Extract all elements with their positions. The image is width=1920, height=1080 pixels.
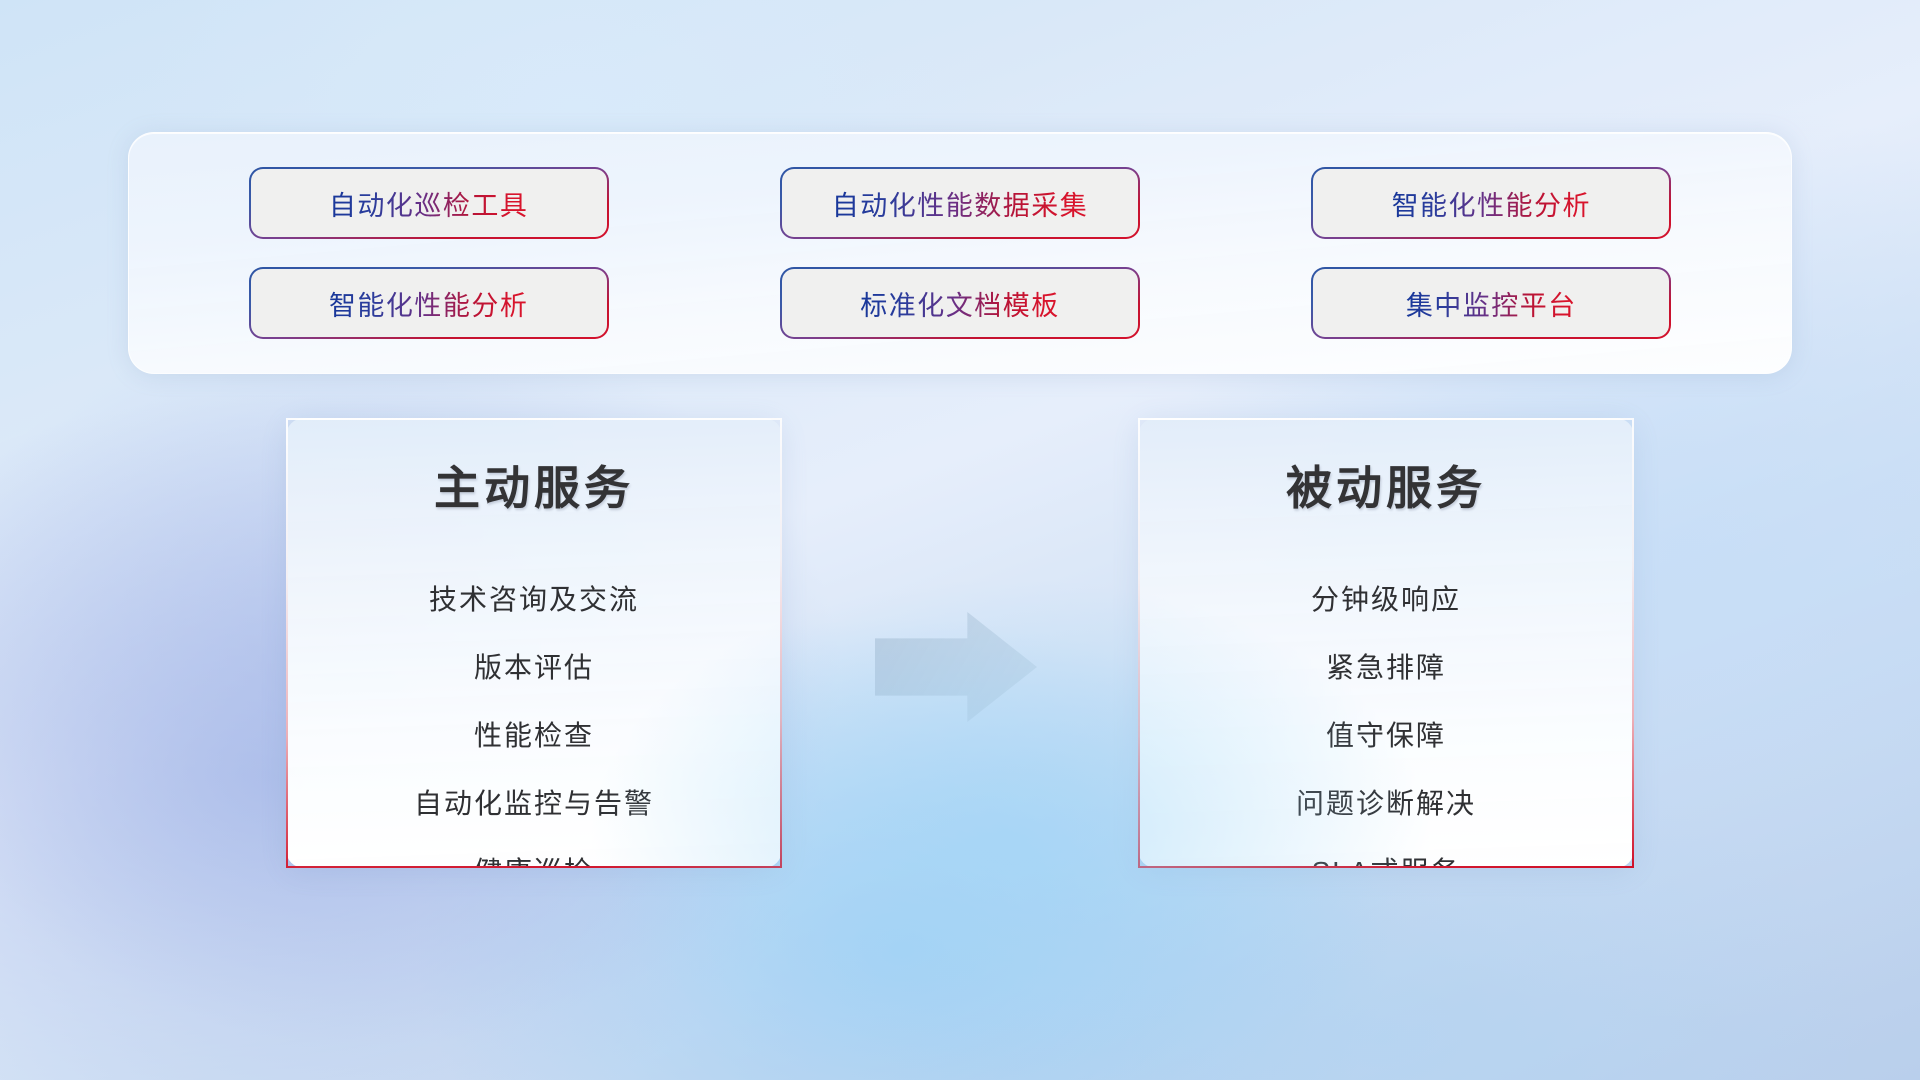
capability-tag[interactable]: 智能化性能分析 bbox=[251, 269, 607, 337]
service-card-title: 主动服务 bbox=[434, 452, 634, 518]
service-list-item[interactable]: 值守保障 bbox=[1326, 708, 1446, 764]
service-card-title: 被动服务 bbox=[1286, 452, 1486, 518]
service-list-item[interactable]: 自动化监控与告警 bbox=[414, 776, 654, 832]
capability-tag-label: 自动化巡检工具 bbox=[329, 184, 529, 223]
service-card-proactive[interactable]: 主动服务 技术咨询及交流 版本评估 性能检查 自动化监控与告警 健康巡检 bbox=[286, 418, 782, 868]
capability-tag-label: 智能化性能分析 bbox=[1392, 184, 1592, 223]
service-item-list: 分钟级响应 紧急排障 值守保障 问题诊断解决 SLA式服务 bbox=[1140, 566, 1632, 866]
service-list-item[interactable]: 技术咨询及交流 bbox=[429, 572, 639, 628]
capability-tag[interactable]: 自动化巡检工具 bbox=[251, 169, 607, 237]
service-item-list: 技术咨询及交流 版本评估 性能检查 自动化监控与告警 健康巡检 bbox=[288, 566, 780, 866]
service-list-item[interactable]: 性能检查 bbox=[474, 708, 594, 764]
service-card-body: 被动服务 分钟级响应 紧急排障 值守保障 问题诊断解决 SLA式服务 bbox=[1140, 420, 1632, 866]
capability-tag[interactable]: 集中监控平台 bbox=[1313, 269, 1669, 337]
service-list-item[interactable]: 分钟级响应 bbox=[1311, 572, 1461, 628]
service-list-item[interactable]: 问题诊断解决 bbox=[1296, 776, 1476, 832]
service-list-item[interactable]: 健康巡检 bbox=[474, 844, 594, 866]
capability-tag-label: 集中监控平台 bbox=[1406, 284, 1577, 323]
capability-tag[interactable]: 标准化文档模板 bbox=[782, 269, 1138, 337]
capability-tag-label: 智能化性能分析 bbox=[329, 284, 529, 323]
service-list-item[interactable]: SLA式服务 bbox=[1312, 844, 1461, 866]
service-card-body: 主动服务 技术咨询及交流 版本评估 性能检查 自动化监控与告警 健康巡检 bbox=[288, 420, 780, 866]
service-card-reactive[interactable]: 被动服务 分钟级响应 紧急排障 值守保障 问题诊断解决 SLA式服务 bbox=[1138, 418, 1634, 868]
capability-tag-label: 标准化文档模板 bbox=[860, 284, 1060, 323]
capability-tag[interactable]: 智能化性能分析 bbox=[1313, 169, 1669, 237]
capability-tags-grid: 自动化巡检工具 自动化性能数据采集 智能化性能分析 智能化性能分析 标准化文档模… bbox=[129, 133, 1791, 373]
service-list-item[interactable]: 紧急排障 bbox=[1326, 640, 1446, 696]
service-list-item[interactable]: 版本评估 bbox=[474, 640, 594, 696]
capability-tags-panel: 自动化巡检工具 自动化性能数据采集 智能化性能分析 智能化性能分析 标准化文档模… bbox=[128, 132, 1792, 374]
capability-tag[interactable]: 自动化性能数据采集 bbox=[782, 169, 1138, 237]
slide-canvas: 自动化巡检工具 自动化性能数据采集 智能化性能分析 智能化性能分析 标准化文档模… bbox=[0, 0, 1920, 1080]
capability-tag-label: 自动化性能数据采集 bbox=[832, 184, 1089, 223]
arrow-right-icon bbox=[875, 612, 1037, 722]
